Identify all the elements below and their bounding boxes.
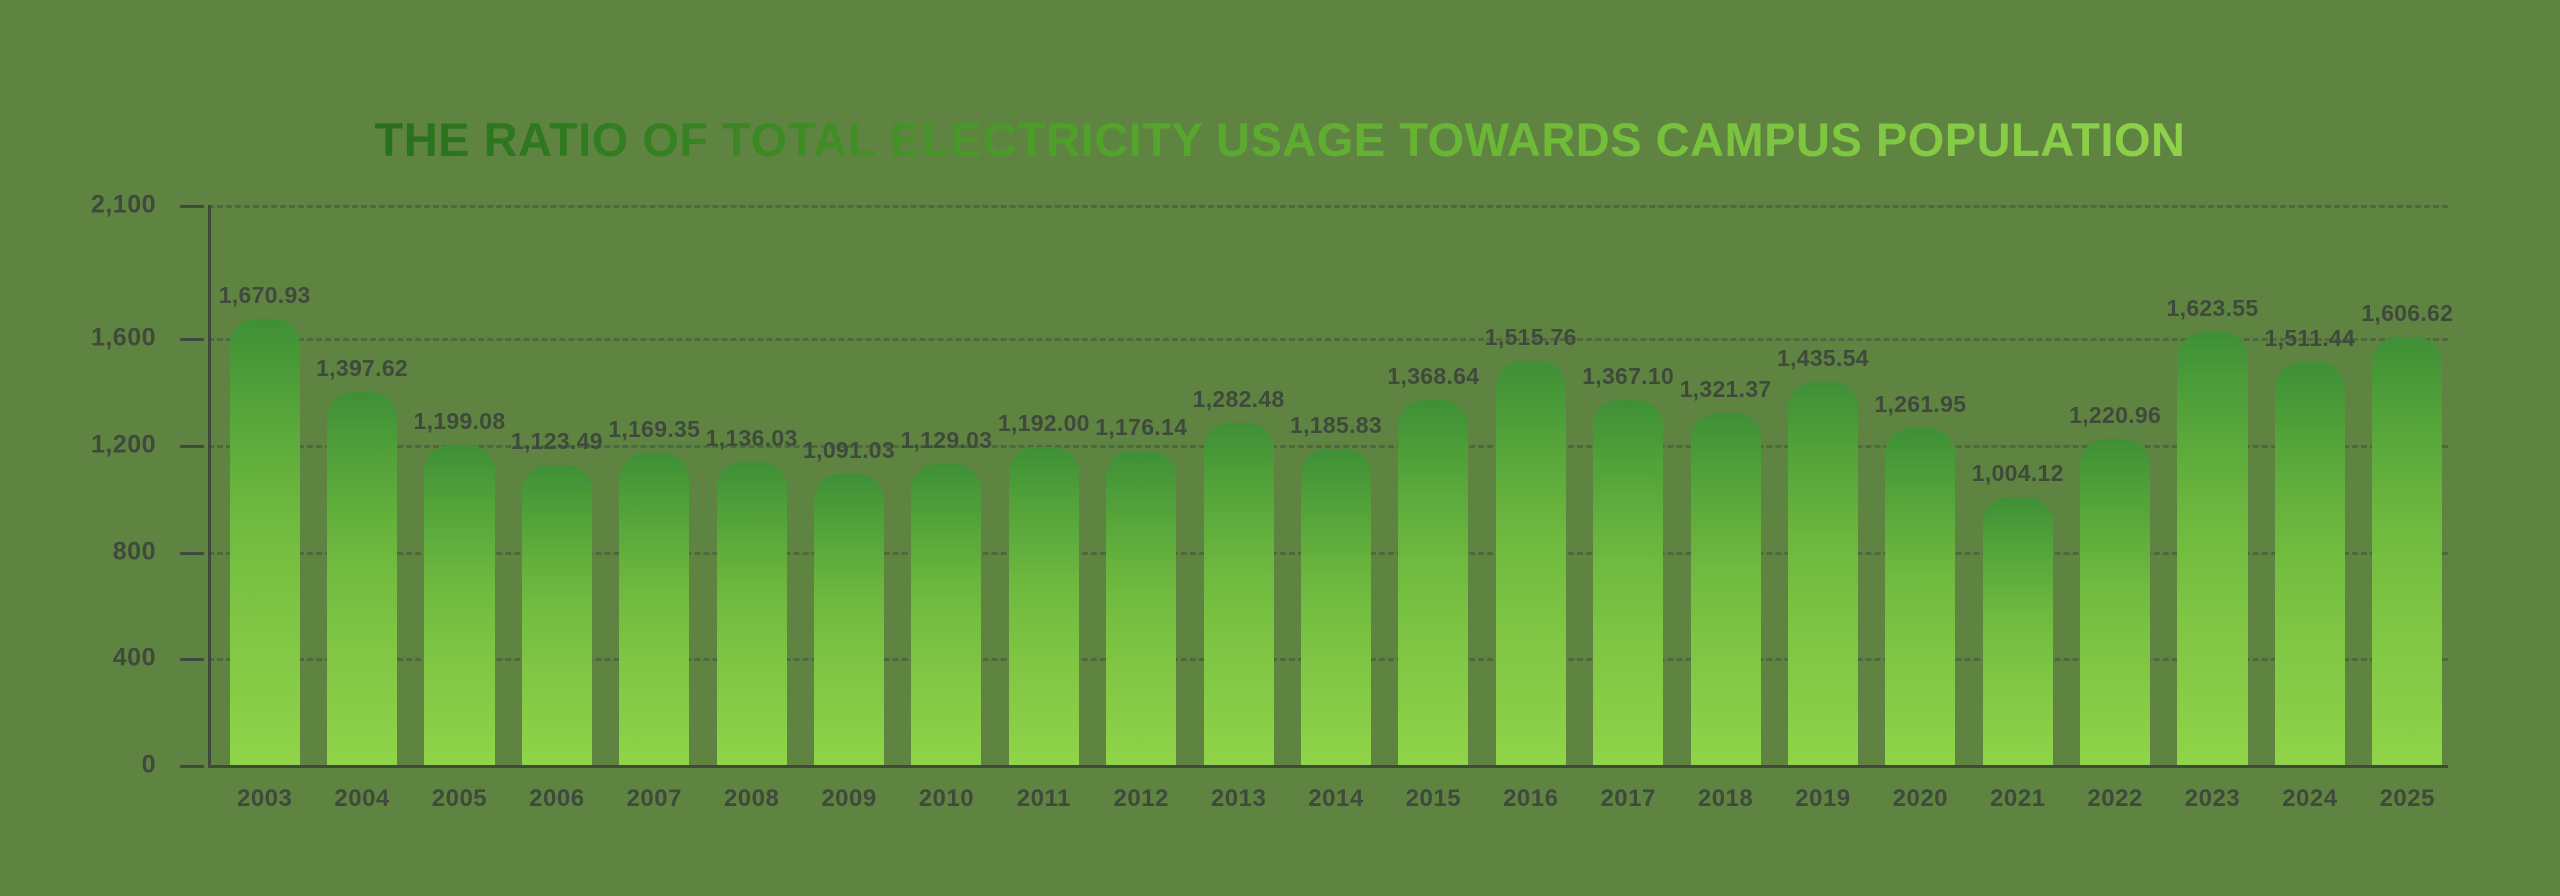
x-axis-line [208,765,2448,768]
y-axis-tick [180,765,204,768]
bar-group[interactable]: 1,261.952020 [1885,205,1955,765]
bar-value-label: 1,623.55 [2167,295,2259,322]
y-axis-label: 2,100 [0,191,156,220]
bar-group[interactable]: 1,367.102017 [1593,205,1663,765]
bar[interactable] [619,453,689,765]
bar-group[interactable]: 1,199.082005 [424,205,494,765]
bar[interactable] [2372,337,2442,765]
bar-group[interactable]: 1,623.552023 [2177,205,2247,765]
x-axis-label: 2013 [1211,785,1266,813]
bar-group[interactable]: 1,435.542019 [1788,205,1858,765]
bar-group[interactable]: 1,511.442024 [2275,205,2345,765]
x-axis-label: 2014 [1308,785,1363,813]
x-axis-label: 2005 [432,785,487,813]
bar[interactable] [1788,382,1858,765]
y-axis-tick [180,338,204,341]
x-axis-label: 2006 [529,785,584,813]
bar-value-label: 1,199.08 [413,408,505,435]
bar-value-label: 1,185.83 [1290,412,1382,439]
bar[interactable] [424,445,494,765]
y-axis-label: 400 [0,644,156,673]
bar[interactable] [522,465,592,765]
x-axis-label: 2007 [627,785,682,813]
bar[interactable] [911,464,981,765]
x-axis-label: 2023 [2185,785,2240,813]
bar-group[interactable]: 1,123.492006 [522,205,592,765]
bar-value-label: 1,123.49 [511,428,603,455]
bar-group[interactable]: 1,192.002011 [1009,205,1079,765]
y-axis-label: 800 [0,537,156,566]
bar-value-label: 1,515.76 [1485,324,1577,351]
bar[interactable] [1398,400,1468,765]
bar-value-label: 1,511.44 [2265,325,2356,352]
page-title: THE RATIO OF TOTAL ELECTRICITY USAGE TOW… [0,112,2560,167]
chart-canvas: THE RATIO OF TOTAL ELECTRICITY USAGE TOW… [0,0,2560,896]
x-axis-label: 2021 [1990,785,2045,813]
bar-group[interactable]: 1,606.622025 [2372,205,2442,765]
bar-group[interactable]: 1,220.962022 [2080,205,2150,765]
bar-group[interactable]: 1,091.032009 [814,205,884,765]
x-axis-label: 2009 [821,785,876,813]
bar[interactable] [717,462,787,765]
bar-value-label: 1,129.03 [900,427,992,454]
bar-group[interactable]: 1,169.352007 [619,205,689,765]
y-axis-label: 1,200 [0,431,156,460]
bar-value-label: 1,606.62 [2361,300,2453,327]
bar-value-label: 1,136.03 [706,425,798,452]
bar[interactable] [1691,413,1761,765]
bar-value-label: 1,435.54 [1777,345,1869,372]
y-axis-tick [180,205,204,208]
bar[interactable] [1593,400,1663,765]
bar[interactable] [2275,362,2345,765]
x-axis-label: 2015 [1406,785,1461,813]
bar[interactable] [1106,451,1176,765]
bar[interactable] [1301,449,1371,765]
y-axis-tick [180,658,204,661]
bar-series: 1,670.9320031,397.6220041,199.0820051,12… [208,205,2448,765]
x-axis-label: 2016 [1503,785,1558,813]
bar[interactable] [1009,447,1079,765]
bar[interactable] [814,474,884,765]
bar[interactable] [1885,428,1955,765]
x-axis-label: 2025 [2380,785,2435,813]
bar-value-label: 1,282.48 [1193,386,1285,413]
bar-group[interactable]: 1,282.482013 [1204,205,1274,765]
bar-value-label: 1,169.35 [608,416,700,443]
x-axis-label: 2017 [1600,785,1655,813]
bar-value-label: 1,368.64 [1387,363,1479,390]
bar-value-label: 1,176.14 [1095,414,1187,441]
y-axis-label: 1,600 [0,324,156,353]
bar-group[interactable]: 1,129.032010 [911,205,981,765]
bar-value-label: 1,004.12 [1972,460,2064,487]
y-axis-tick [180,552,204,555]
bar-value-label: 1,261.95 [1874,391,1966,418]
bar-group[interactable]: 1,004.122021 [1983,205,2053,765]
bar-value-label: 1,670.93 [219,282,311,309]
bar-group[interactable]: 1,397.622004 [327,205,397,765]
x-axis-label: 2011 [1017,785,1071,813]
y-axis-label: 0 [0,751,156,780]
plot-area: 04008001,2001,6002,100 1,670.9320031,397… [208,205,2448,765]
bar[interactable] [1204,423,1274,765]
x-axis-label: 2019 [1795,785,1850,813]
bar-group[interactable]: 1,515.762016 [1496,205,1566,765]
bar[interactable] [327,392,397,765]
x-axis-label: 2020 [1893,785,1948,813]
x-axis-label: 2008 [724,785,779,813]
bar-value-label: 1,367.10 [1582,363,1674,390]
bar[interactable] [1496,361,1566,765]
bar-value-label: 1,321.37 [1680,376,1772,403]
bar[interactable] [1983,497,2053,765]
bar-group[interactable]: 1,670.932003 [230,205,300,765]
y-axis-tick [180,445,204,448]
x-axis-label: 2010 [919,785,974,813]
bar-group[interactable]: 1,321.372018 [1691,205,1761,765]
bar-value-label: 1,091.03 [803,437,895,464]
bar-group[interactable]: 1,368.642015 [1398,205,1468,765]
x-axis-label: 2024 [2282,785,2337,813]
x-axis-label: 2018 [1698,785,1753,813]
bar-value-label: 1,397.62 [316,355,408,382]
x-axis-label: 2012 [1114,785,1169,813]
x-axis-label: 2004 [334,785,389,813]
bar-group[interactable]: 1,185.832014 [1301,205,1371,765]
x-axis-label: 2022 [2087,785,2142,813]
x-axis-label: 2003 [237,785,292,813]
bar-group[interactable]: 1,136.032008 [717,205,787,765]
bar-value-label: 1,220.96 [2069,402,2161,429]
bar[interactable] [2080,439,2150,765]
bar-value-label: 1,192.00 [998,410,1090,437]
bar[interactable] [230,319,300,765]
bar[interactable] [2177,332,2247,765]
bar-group[interactable]: 1,176.142012 [1106,205,1176,765]
